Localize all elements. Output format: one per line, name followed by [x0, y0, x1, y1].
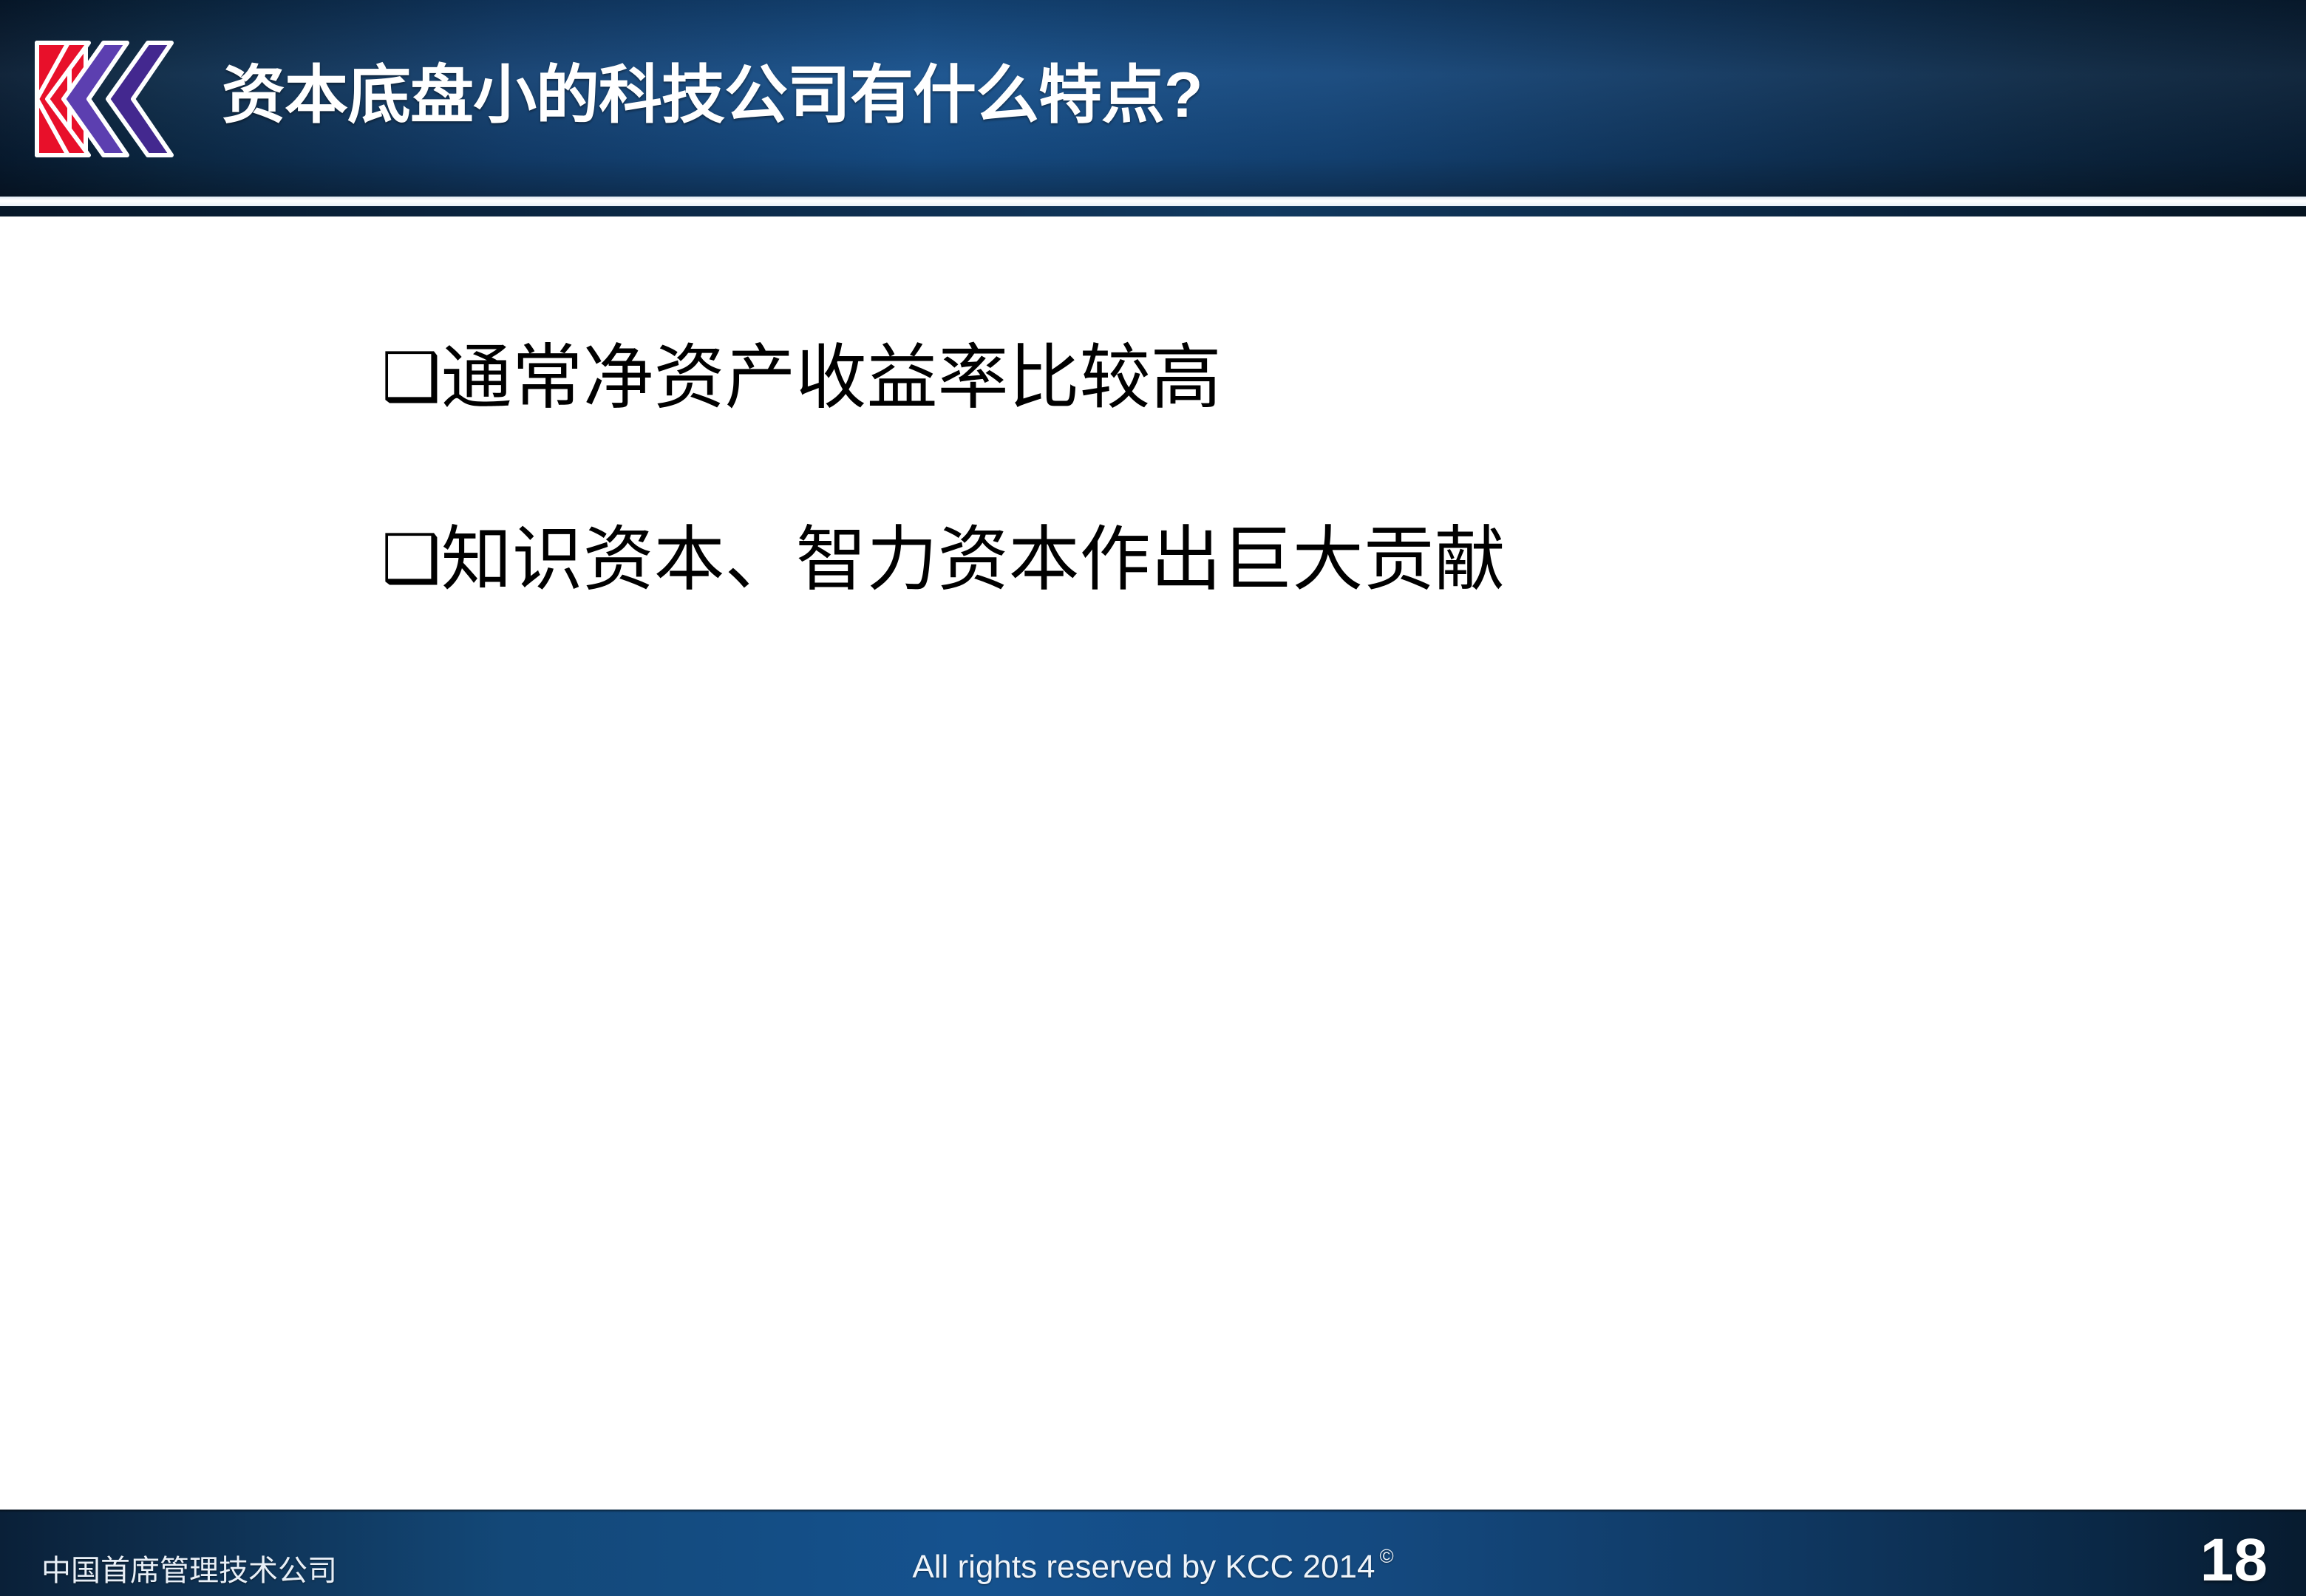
list-item: ❑ 知识资本、智力资本作出巨大贡献 — [381, 524, 2155, 595]
slide-body: ❑ 通常净资产收益率比较高 ❑ 知识资本、智力资本作出巨大贡献 — [0, 216, 2306, 1510]
page-number: 18 — [2200, 1530, 2268, 1591]
header-divider-light — [0, 197, 2306, 206]
kcc-logo-icon — [33, 38, 177, 160]
bullet-text: 知识资本、智力资本作出巨大贡献 — [441, 524, 1506, 595]
footer-copyright: All rights reserved by KCC 2014© — [0, 1545, 2306, 1586]
slide-canvas: 资本底盘小的科技公司有什么特点? ❑ 通常净资产收益率比较高 ❑ 知识资本、智力… — [0, 0, 2306, 1596]
bullet-list: ❑ 通常净资产收益率比较高 ❑ 知识资本、智力资本作出巨大贡献 — [381, 342, 2155, 595]
square-bullet-icon: ❑ — [381, 342, 441, 412]
bullet-text: 通常净资产收益率比较高 — [441, 342, 1222, 413]
header-divider-dark — [0, 206, 2306, 216]
copyright-icon: © — [1379, 1545, 1393, 1567]
slide-title: 资本底盘小的科技公司有什么特点? — [222, 64, 1203, 127]
square-bullet-icon: ❑ — [381, 524, 441, 594]
footer-copyright-text: All rights reserved by KCC 2014 — [912, 1549, 1375, 1585]
list-item: ❑ 通常净资产收益率比较高 — [381, 342, 2155, 413]
slide-footer: 中国首席管理技术公司 All rights reserved by KCC 20… — [0, 1510, 2306, 1596]
